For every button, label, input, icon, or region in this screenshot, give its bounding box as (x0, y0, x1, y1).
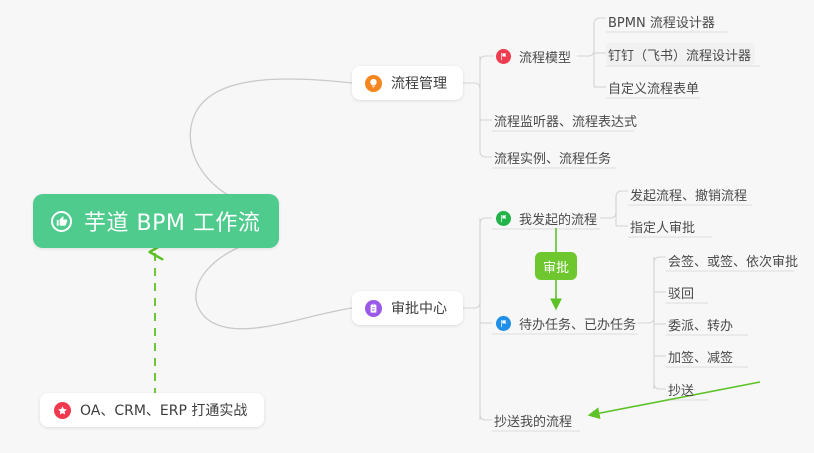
topic-my-started[interactable]: 我发起的流程 (494, 207, 601, 229)
topic-label-my-started: 我发起的流程 (519, 209, 597, 228)
edge-ac-trunk (462, 218, 492, 308)
callout-label-integration: OA、CRM、ERP 打通实战 (80, 400, 247, 420)
topic-label-start-cancel: 发起流程、撤销流程 (630, 185, 747, 204)
topic-label-listener-expression: 流程监听器、流程表达式 (494, 111, 637, 130)
topic-dingtalk-designer[interactable]: 钉钉（飞书）流程设计器 (606, 43, 755, 65)
edge-todo-trunk (638, 257, 666, 323)
edge-pm-trunk (462, 83, 492, 157)
topic-process-model[interactable]: 流程模型 (494, 45, 575, 67)
branch-node-process-management[interactable]: 流程管理 (352, 66, 463, 100)
clipboard-icon (365, 300, 382, 317)
root-label: 芋道 BPM 工作流 (84, 205, 260, 237)
lightbulb-icon (365, 75, 382, 92)
star-icon (54, 402, 71, 419)
branch-label-approval-center: 审批中心 (391, 298, 447, 318)
edge-model-trunk (577, 18, 606, 56)
flag-icon (496, 49, 511, 64)
flow-tag-label: 审批 (543, 257, 569, 276)
topic-cc-to-me[interactable]: 抄送我的流程 (492, 409, 576, 431)
topic-label-reject: 驳回 (668, 283, 694, 302)
topic-label-add-remove-sign: 加签、减签 (668, 347, 733, 366)
topic-label-bpmn-designer: BPMN 流程设计器 (608, 12, 715, 31)
mindmap-canvas: 芋道 BPM 工作流 流程管理 审批中心 OA、CRM、ERP 打通实战 审批 (0, 0, 814, 453)
topic-label-todo-done: 待办任务、已办任务 (519, 314, 636, 333)
topic-label-instance-task: 流程实例、流程任务 (494, 148, 611, 167)
edge-root-to-process-management (190, 79, 352, 210)
topic-delegate-transfer[interactable]: 委派、转办 (666, 313, 737, 335)
thumbs-up-icon (51, 211, 72, 232)
topic-countersign[interactable]: 会签、或签、依次审批 (666, 249, 802, 271)
flag-icon (496, 316, 511, 331)
topic-label-assignee-approve: 指定人审批 (630, 217, 695, 236)
topic-instance-task[interactable]: 流程实例、流程任务 (492, 146, 615, 168)
topic-assignee-approve[interactable]: 指定人审批 (628, 215, 699, 237)
topic-custom-form[interactable]: 自定义流程表单 (606, 76, 703, 98)
edge-pm-to-process-model (480, 56, 494, 62)
topic-label-delegate-transfer: 委派、转办 (668, 315, 733, 334)
topic-label-dingtalk-designer: 钉钉（飞书）流程设计器 (608, 45, 751, 64)
topic-reject[interactable]: 驳回 (666, 281, 698, 303)
edge-todo-to-cc (654, 383, 666, 389)
topic-label-cc: 抄送 (668, 380, 694, 399)
topic-todo-done[interactable]: 待办任务、已办任务 (494, 312, 640, 334)
topic-start-cancel[interactable]: 发起流程、撤销流程 (628, 183, 751, 205)
topic-bpmn-designer[interactable]: BPMN 流程设计器 (606, 10, 719, 32)
branch-label-process-management: 流程管理 (391, 73, 447, 93)
topic-label-custom-form: 自定义流程表单 (608, 78, 699, 97)
edge-ac-to-ccme (480, 414, 492, 420)
flag-icon (496, 211, 511, 226)
callout-node-integration[interactable]: OA、CRM、ERP 打通实战 (40, 393, 264, 427)
flow-tag-approval[interactable]: 审批 (535, 252, 577, 280)
topic-add-remove-sign[interactable]: 加签、减签 (666, 345, 737, 367)
branch-node-approval-center[interactable]: 审批中心 (352, 291, 463, 325)
topic-listener-expression[interactable]: 流程监听器、流程表达式 (492, 109, 641, 131)
topic-label-process-model: 流程模型 (519, 47, 571, 66)
topic-label-cc-to-me: 抄送我的流程 (494, 411, 572, 430)
edge-root-to-approval-center (196, 236, 352, 329)
topic-label-countersign: 会签、或签、依次审批 (668, 251, 798, 270)
root-node[interactable]: 芋道 BPM 工作流 (33, 194, 279, 248)
topic-cc[interactable]: 抄送 (666, 378, 698, 400)
edge-started-trunk (600, 191, 628, 218)
